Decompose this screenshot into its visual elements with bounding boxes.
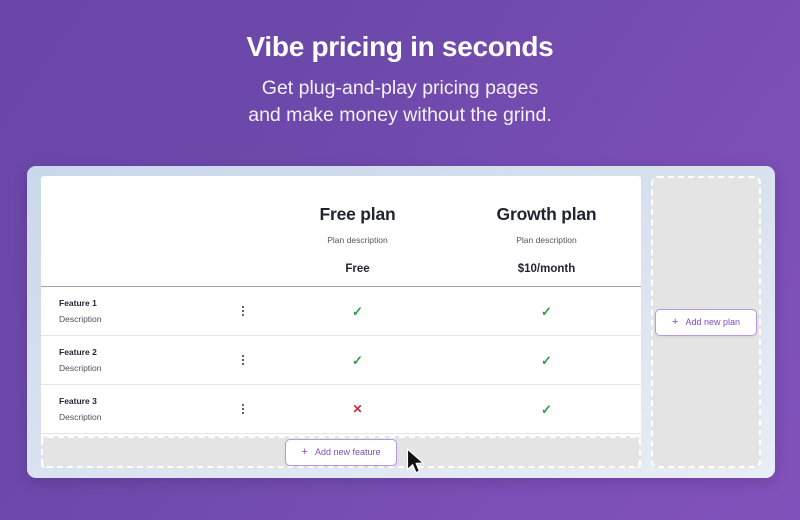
- feature-value-growth: ✓: [452, 403, 641, 416]
- pricing-card: Free plan Plan description Free Growth p…: [27, 166, 775, 478]
- check-icon: ✓: [352, 305, 363, 318]
- add-new-feature-label: Add new feature: [315, 447, 381, 457]
- plan-name: Growth plan: [497, 204, 597, 225]
- plan-name: Free plan: [319, 204, 395, 225]
- kebab-menu-icon: [236, 401, 250, 417]
- feature-title: Feature 3: [59, 395, 223, 408]
- hero-section: Vibe pricing in seconds Get plug-and-pla…: [0, 0, 800, 130]
- feature-cell: Feature 1 Description: [41, 297, 223, 326]
- add-feature-dropzone: + Add new feature: [41, 436, 641, 468]
- feature-value-free: ✓: [263, 305, 452, 318]
- feature-cell: Feature 3 Description: [41, 395, 223, 424]
- check-icon: ✓: [541, 354, 552, 367]
- kebab-menu-icon: [236, 303, 250, 319]
- table-row: Feature 3 Description ✕ ✓: [41, 385, 641, 434]
- feature-title: Feature 1: [59, 297, 223, 310]
- table-row: Feature 2 Description ✓ ✓: [41, 336, 641, 385]
- feature-row-menu-button[interactable]: [223, 352, 263, 368]
- check-icon: ✓: [541, 403, 552, 416]
- plus-icon: +: [302, 447, 308, 458]
- add-new-plan-label: Add new plan: [685, 317, 740, 327]
- header-menu-spacer: [223, 176, 263, 286]
- add-new-plan-button[interactable]: + Add new plan: [655, 309, 757, 336]
- feature-description: Description: [59, 313, 223, 326]
- plus-icon: +: [672, 317, 678, 328]
- plan-description: Plan description: [327, 235, 387, 245]
- cross-icon: ✕: [352, 403, 362, 415]
- hero-subtitle-line-1: Get plug-and-play pricing pages: [0, 75, 800, 103]
- page-title: Vibe pricing in seconds: [0, 32, 800, 63]
- plan-price: Free: [345, 263, 369, 275]
- plan-column-growth: Growth plan Plan description $10/month: [452, 176, 641, 286]
- feature-cell: Feature 2 Description: [41, 346, 223, 375]
- pricing-table-header-row: Free plan Plan description Free Growth p…: [41, 176, 641, 287]
- feature-description: Description: [59, 411, 223, 424]
- header-feature-spacer: [41, 176, 223, 286]
- plan-description: Plan description: [516, 235, 576, 245]
- feature-value-growth: ✓: [452, 305, 641, 318]
- hero-subtitle: Get plug-and-play pricing pages and make…: [0, 75, 800, 130]
- feature-value-growth: ✓: [452, 354, 641, 367]
- feature-value-free: ✓: [263, 354, 452, 367]
- kebab-menu-icon: [236, 352, 250, 368]
- feature-title: Feature 2: [59, 346, 223, 359]
- add-new-feature-button[interactable]: + Add new feature: [285, 439, 398, 466]
- check-icon: ✓: [352, 354, 363, 367]
- hero-subtitle-line-2: and make money without the grind.: [0, 102, 800, 130]
- feature-description: Description: [59, 362, 223, 375]
- add-plan-dropzone: + Add new plan: [651, 176, 761, 468]
- table-row: Feature 1 Description ✓ ✓: [41, 287, 641, 336]
- pricing-table: Free plan Plan description Free Growth p…: [41, 176, 641, 468]
- plan-column-free: Free plan Plan description Free: [263, 176, 452, 286]
- pricing-card-inner: Free plan Plan description Free Growth p…: [41, 176, 761, 468]
- feature-value-free: ✕: [263, 403, 452, 415]
- plan-price: $10/month: [518, 263, 576, 275]
- feature-row-menu-button[interactable]: [223, 303, 263, 319]
- feature-row-menu-button[interactable]: [223, 401, 263, 417]
- check-icon: ✓: [541, 305, 552, 318]
